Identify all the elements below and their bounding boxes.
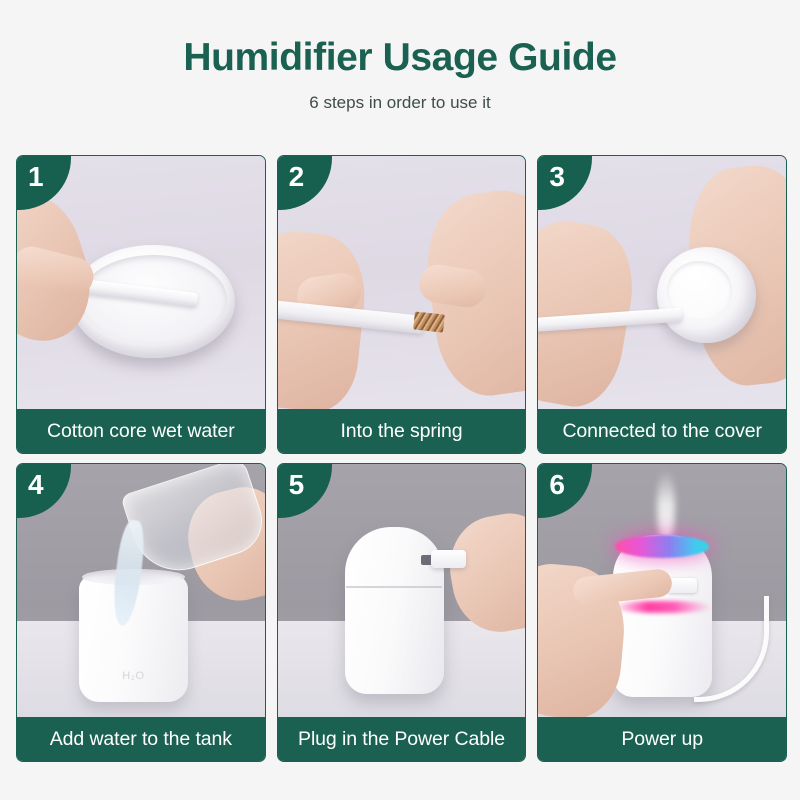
step-number-4: 4 xyxy=(28,471,44,499)
step-number-1: 1 xyxy=(28,163,44,191)
copper-spring xyxy=(413,311,444,332)
step-photo-1: 1 xyxy=(17,156,265,409)
step-card-1[interactable]: 1 Cotton core wet water xyxy=(16,155,266,454)
step-caption-2: Into the spring xyxy=(278,409,526,453)
step-photo-3: 3 xyxy=(538,156,786,409)
step-caption-5: Plug in the Power Cable xyxy=(278,717,526,761)
step-caption-3: Connected to the cover xyxy=(538,409,786,453)
usb-plug xyxy=(431,550,466,568)
rgb-light-ring xyxy=(615,535,709,558)
page-subtitle: 6 steps in order to use it xyxy=(0,93,800,113)
step-number-3: 3 xyxy=(549,163,565,191)
steps-grid: 1 Cotton core wet water 2 Into the sprin… xyxy=(16,155,787,762)
step-caption-1: Cotton core wet water xyxy=(17,409,265,453)
page-header: Humidifier Usage Guide 6 steps in order … xyxy=(0,0,800,113)
mist-plume xyxy=(657,469,674,545)
h2o-label: H₂O xyxy=(79,670,188,682)
step-photo-2: 2 xyxy=(278,156,526,409)
infographic-page: Humidifier Usage Guide 6 steps in order … xyxy=(0,0,800,800)
step-number-5: 5 xyxy=(289,471,305,499)
step-card-5[interactable]: 5 Plug in the Power Cable xyxy=(277,463,527,762)
humidifier-body xyxy=(345,527,444,694)
step-card-3[interactable]: 3 Connected to the cover xyxy=(537,155,787,454)
step-caption-6: Power up xyxy=(538,717,786,761)
step-photo-5: 5 xyxy=(278,464,526,717)
page-title: Humidifier Usage Guide xyxy=(0,38,800,79)
step-caption-4: Add water to the tank xyxy=(17,717,265,761)
step-photo-6: 6 xyxy=(538,464,786,717)
step-number-2: 2 xyxy=(289,163,305,191)
step-number-6: 6 xyxy=(549,471,565,499)
step-card-4[interactable]: H₂O 4 Add water to the tank xyxy=(16,463,266,762)
humidifier-cover xyxy=(657,247,756,343)
step-card-2[interactable]: 2 Into the spring xyxy=(277,155,527,454)
step-card-6[interactable]: 6 Power up xyxy=(537,463,787,762)
step-photo-4: H₂O 4 xyxy=(17,464,265,717)
